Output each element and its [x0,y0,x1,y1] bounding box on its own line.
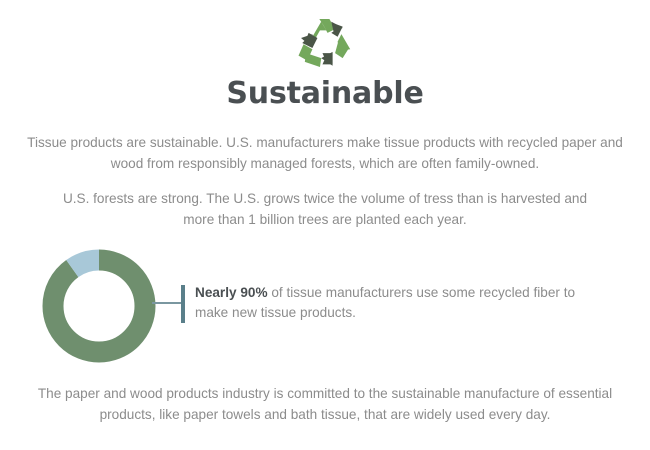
donut-chart [38,245,160,367]
recycle-icon [292,14,358,72]
callout-connector-line [152,302,182,304]
paragraph-sustainable-products: Tissue products are sustainable. U.S. ma… [26,132,624,174]
donut-chart-svg [38,245,160,367]
callout-accent-bar [181,285,185,323]
paragraph-industry-commitment: The paper and wood products industry is … [26,383,624,425]
donut-slice-recycled [53,260,145,352]
page-title: Sustainable [0,78,650,110]
callout-text: Nearly 90% of tissue manufacturers use s… [181,283,611,324]
header: Sustainable [0,0,650,110]
callout-emphasis: Nearly 90% [195,285,268,300]
callout: Nearly 90% of tissue manufacturers use s… [181,283,611,324]
paragraph-forests-strong: U.S. forests are strong. The U.S. grows … [58,188,592,230]
